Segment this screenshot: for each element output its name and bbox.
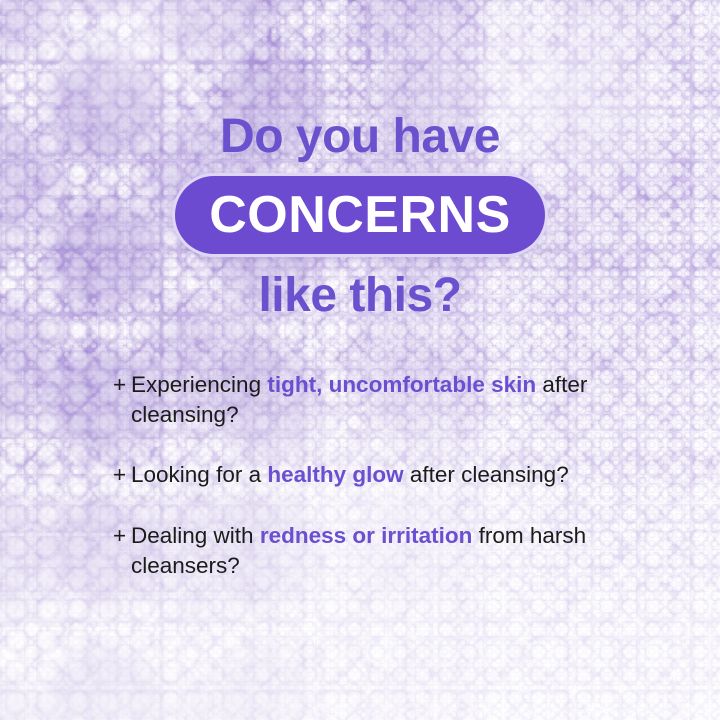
plus-marker-icon: + bbox=[113, 460, 131, 490]
concerns-pill-label: CONCERNS bbox=[209, 189, 511, 241]
segment-plain: Experiencing bbox=[131, 372, 267, 397]
headline-block: Do you have CONCERNS like this? bbox=[0, 112, 720, 321]
plus-marker-icon: + bbox=[113, 370, 131, 400]
pill-row: CONCERNS bbox=[0, 173, 720, 257]
segment-plain: Dealing with bbox=[131, 523, 260, 548]
segment-highlight: tight, uncomfortable skin bbox=[267, 372, 536, 397]
segment-plain: Looking for a bbox=[131, 462, 267, 487]
segment-highlight: healthy glow bbox=[267, 462, 403, 487]
promo-poster: Do you have CONCERNS like this? + Experi… bbox=[0, 0, 720, 720]
headline-line-1: Do you have bbox=[0, 112, 720, 162]
headline-line-3: like this? bbox=[0, 271, 720, 321]
list-item-text: Looking for a healthy glow after cleansi… bbox=[131, 460, 653, 490]
concerns-list: + Experiencing tight, uncomfortable skin… bbox=[113, 370, 653, 580]
plus-marker-icon: + bbox=[113, 521, 131, 551]
poster-content: Do you have CONCERNS like this? + Experi… bbox=[0, 0, 720, 720]
segment-plain: after cleansing? bbox=[404, 462, 569, 487]
list-item-text: Dealing with redness or irritation from … bbox=[131, 521, 653, 580]
list-item-text: Experiencing tight, uncomfortable skin a… bbox=[131, 370, 653, 429]
list-item: + Looking for a healthy glow after clean… bbox=[113, 460, 653, 490]
concerns-pill-badge: CONCERNS bbox=[172, 173, 548, 257]
list-item: + Dealing with redness or irritation fro… bbox=[113, 521, 653, 580]
segment-highlight: redness or irritation bbox=[260, 523, 473, 548]
list-item: + Experiencing tight, uncomfortable skin… bbox=[113, 370, 653, 429]
